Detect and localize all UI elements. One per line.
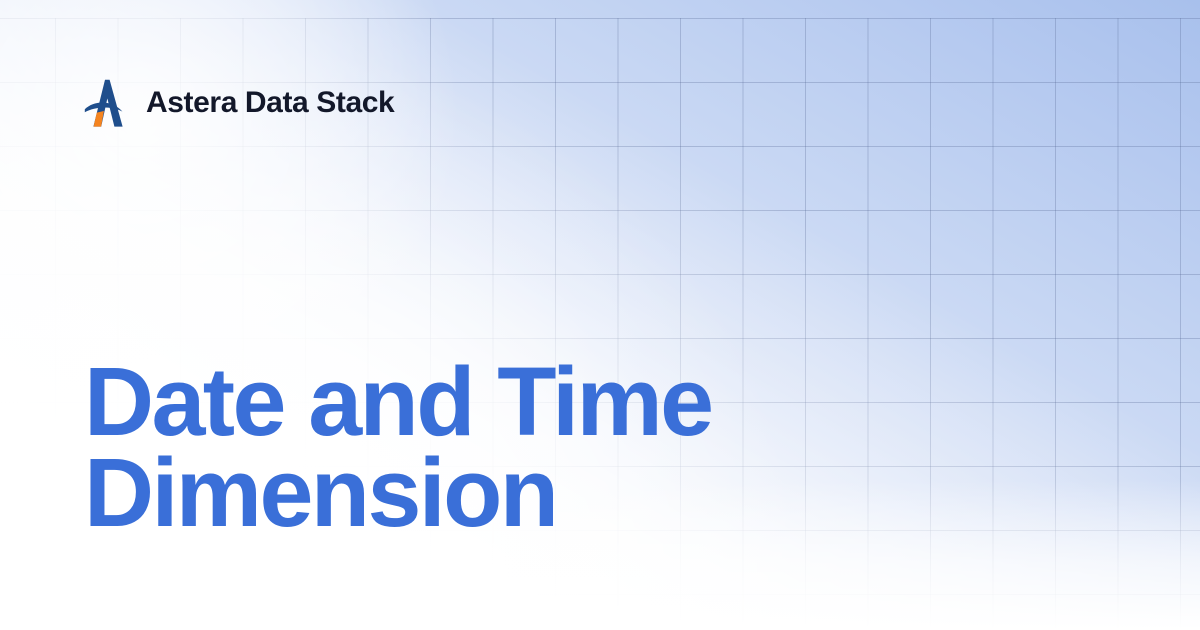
og-card: Astera Data Stack Date and Time Dimensio… [0,0,1200,630]
page-title: Date and Time Dimension [84,356,984,538]
astera-a-logo-icon [84,78,130,128]
page-title-line-1: Date and Time [84,356,984,447]
brand-name: Astera Data Stack [146,88,394,118]
page-title-line-2: Dimension [84,447,984,538]
brand-lockup: Astera Data Stack [84,78,394,128]
card-content: Astera Data Stack Date and Time Dimensio… [0,0,1200,630]
